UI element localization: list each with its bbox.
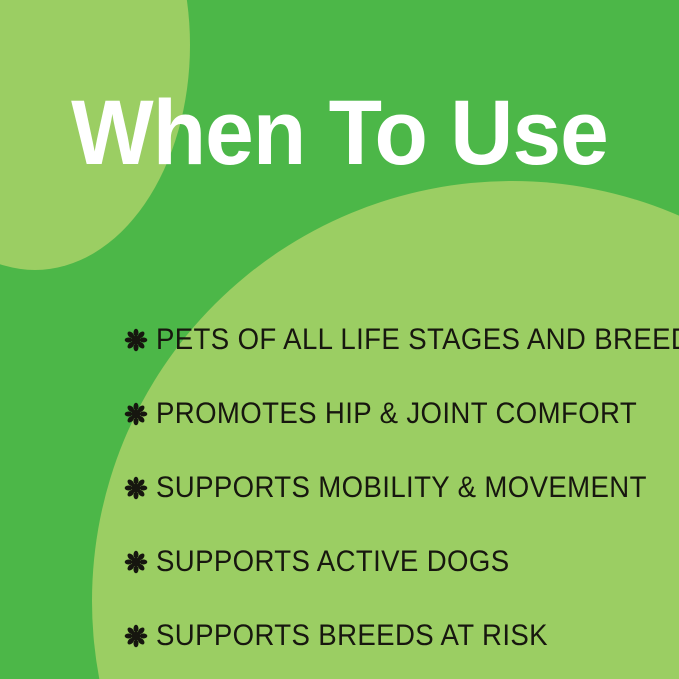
content-area: When To Use [0, 0, 679, 679]
list-item: SUPPORTS ACTIVE DOGS [124, 525, 659, 599]
list-item-label: PROMOTES HIP & JOINT COMFORT [156, 399, 637, 429]
infographic-panel: When To Use [0, 0, 679, 679]
list-item: SUPPORTS BREEDS AT RISK [124, 599, 659, 673]
list-item-label: SUPPORTS BREEDS AT RISK [156, 621, 619, 651]
list-item-label: SUPPORTS ACTIVE DOGS [156, 547, 619, 577]
flower-asterisk-icon [124, 476, 156, 500]
list-item-label: PETS OF ALL LIFE STAGES AND BREEDS [156, 325, 679, 355]
list-item: PETS OF ALL LIFE STAGES AND BREEDS [124, 303, 659, 377]
page-title: When To Use [17, 83, 662, 183]
list-item: SUPPORTS MOBILITY & MOVEMENT [124, 451, 659, 525]
list-item-label: SUPPORTS MOBILITY & MOVEMENT [156, 473, 647, 503]
flower-asterisk-icon [124, 550, 156, 574]
benefits-list: PETS OF ALL LIFE STAGES AND BREEDS [124, 303, 659, 673]
flower-asterisk-icon [124, 624, 156, 648]
list-item: PROMOTES HIP & JOINT COMFORT [124, 377, 659, 451]
flower-asterisk-icon [124, 402, 156, 426]
flower-asterisk-icon [124, 328, 156, 352]
